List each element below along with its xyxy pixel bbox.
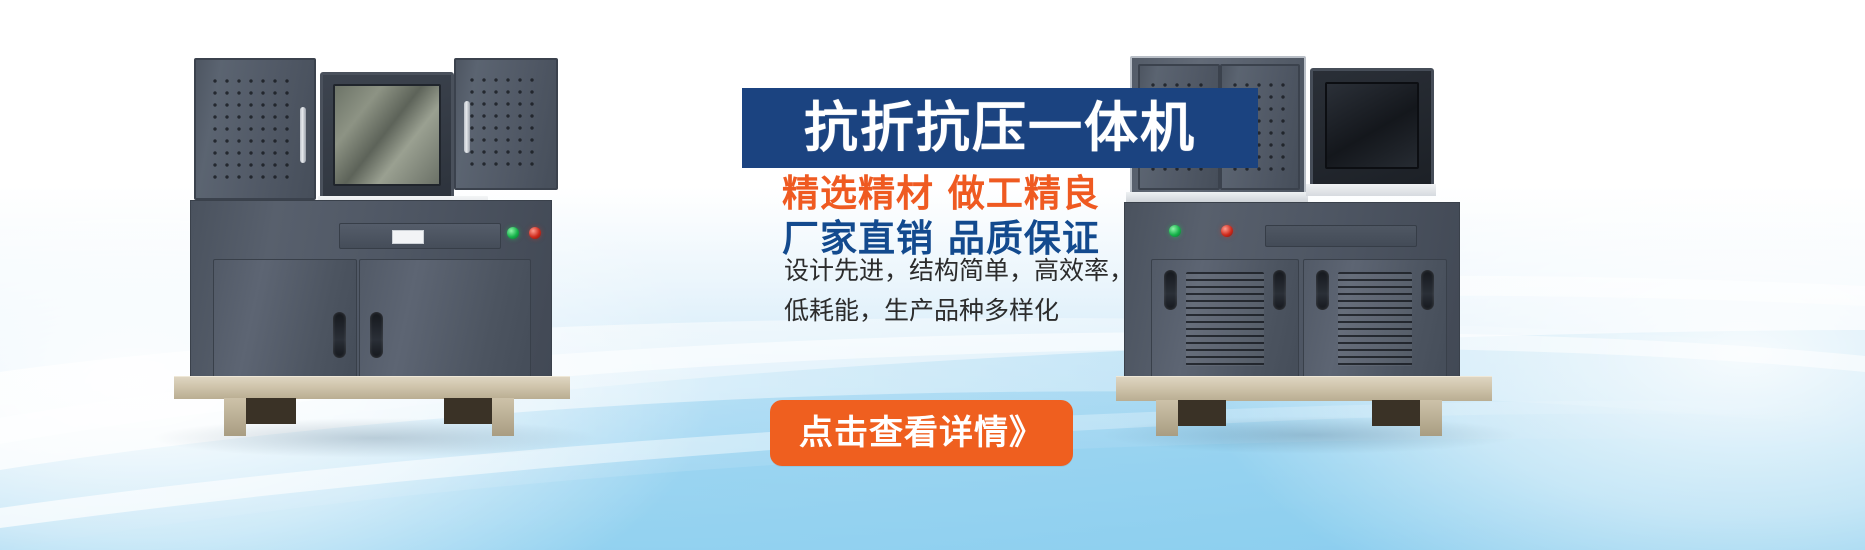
monitor-shelf	[1306, 184, 1436, 196]
control-screen-display	[333, 84, 441, 186]
ventilation-louvre-icon	[1186, 272, 1264, 366]
cabinet-trim-strip	[1126, 192, 1308, 202]
pallet-leg	[1156, 400, 1178, 436]
pallet-leg	[1420, 400, 1442, 436]
indicator-light-green	[507, 227, 519, 239]
view-details-button[interactable]: 点击查看详情》	[770, 400, 1073, 466]
cabinet-door-right	[359, 259, 531, 379]
recessed-handle	[333, 312, 346, 358]
perforation-pattern-icon	[470, 78, 540, 170]
cabinet-door-left	[1151, 259, 1299, 381]
indicator-light-green	[1169, 225, 1181, 237]
perforation-pattern-icon	[213, 79, 296, 178]
promo-banner: 抗折抗压一体机 精选精材 做工精良 厂家直销 品质保证 设计先进，结构简单，高效…	[0, 0, 1865, 550]
indicator-light-red	[529, 227, 541, 239]
main-cabinet-body	[190, 200, 552, 380]
view-details-button-label: 点击查看详情》	[799, 416, 1044, 450]
recessed-handle	[1316, 270, 1329, 310]
monitor-housing	[1310, 68, 1434, 190]
monitor-display	[1325, 82, 1419, 169]
pallet-gap	[246, 398, 296, 424]
drawer-label-plate	[392, 230, 424, 244]
product-image-left	[172, 48, 572, 438]
main-cabinet-body	[1124, 202, 1460, 382]
recessed-handle	[1164, 270, 1177, 310]
pallet-gap	[1372, 400, 1420, 426]
description-line-2: 低耗能，生产品种多样化	[784, 291, 1059, 327]
description-line-1: 设计先进，结构简单，高效率，	[784, 251, 1134, 287]
ventilation-louvre-icon	[1338, 272, 1412, 366]
upper-left-perforated-door	[194, 58, 316, 200]
wooden-pallet	[1116, 376, 1492, 401]
headline-text: 抗折抗压一体机	[804, 101, 1196, 155]
control-panel-strip	[1265, 225, 1417, 247]
upper-right-perforated-door	[454, 58, 558, 190]
recessed-handle	[1273, 270, 1286, 310]
pallet-gap	[444, 398, 492, 424]
pallet-gap	[1178, 400, 1226, 426]
pallet-leg	[224, 398, 246, 436]
control-drawer	[339, 223, 501, 249]
pallet-leg	[492, 398, 514, 436]
cabinet-door-right	[1303, 259, 1447, 381]
wooden-pallet	[174, 376, 570, 399]
cabinet-door-left	[213, 259, 357, 379]
door-handle	[300, 107, 306, 163]
indicator-light-red	[1221, 225, 1233, 237]
recessed-handle	[370, 312, 383, 358]
recessed-handle	[1421, 270, 1434, 310]
control-screen-housing	[320, 72, 454, 202]
door-handle	[464, 101, 470, 153]
headline-banner-bar: 抗折抗压一体机	[742, 88, 1258, 168]
